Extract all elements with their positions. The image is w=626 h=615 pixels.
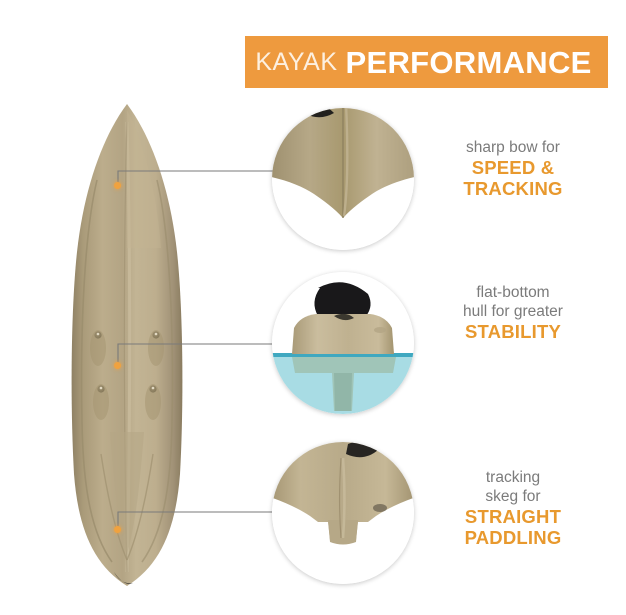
callout-text-bow: sharp bow for SPEED & TRACKING xyxy=(418,138,608,199)
callout-text-skeg: tracking skeg for STRAIGHT PADDLING xyxy=(418,468,608,548)
callout-text-hull: flat-bottom hull for greater STABILITY xyxy=(418,283,608,342)
callout-skeg-sub-0: tracking xyxy=(418,468,608,487)
detail-circle-hull xyxy=(272,272,414,414)
hull-side-shadow xyxy=(373,504,387,512)
plug-glint-lower-left xyxy=(100,387,103,390)
infographic-root: KAYAK PERFORMANCE xyxy=(0,0,626,615)
detail-circle-skeg xyxy=(272,442,414,584)
plug-glint-upper-right xyxy=(155,333,158,336)
callout-bow-hl-1: TRACKING xyxy=(418,178,608,199)
detail-circle-bow xyxy=(272,108,414,250)
header-title-bold: PERFORMANCE xyxy=(346,47,592,78)
callout-hull-sub-1: hull for greater xyxy=(418,302,608,321)
plug-glint-lower-right xyxy=(152,387,155,390)
skeg-center-highlight xyxy=(343,458,345,538)
callout-hull-hl-0: STABILITY xyxy=(418,321,608,342)
callout-skeg-sub-1: skeg for xyxy=(418,487,608,506)
plug-glint-upper-left xyxy=(97,333,100,336)
callout-skeg-hl-1: PADDLING xyxy=(418,527,608,548)
callout-hull-sub-0: flat-bottom xyxy=(418,283,608,302)
callout-skeg-hl-0: STRAIGHT xyxy=(418,506,608,527)
kayak-hull-svg xyxy=(52,102,202,589)
marker-dot-skeg xyxy=(114,526,121,533)
skeg-submerged xyxy=(334,373,352,411)
header-banner: KAYAK PERFORMANCE xyxy=(245,36,608,88)
hull-recess xyxy=(374,327,386,333)
marker-dot-bow xyxy=(114,182,121,189)
callout-bow-sub-0: sharp bow for xyxy=(418,138,608,157)
hull-above-water xyxy=(292,314,394,354)
callout-bow-hl-0: SPEED & xyxy=(418,157,608,178)
marker-dot-hull xyxy=(114,362,121,369)
header-title-light: KAYAK xyxy=(255,50,337,75)
kayak-illustration xyxy=(52,102,202,589)
